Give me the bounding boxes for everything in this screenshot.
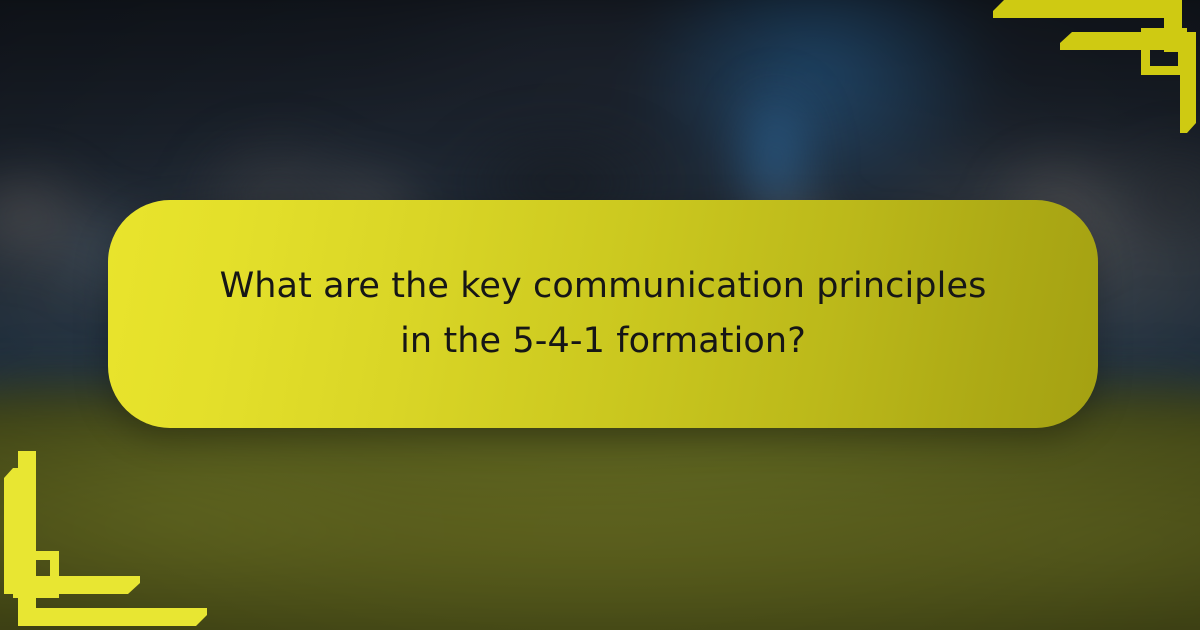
share-card-canvas: What are the key communication principle…: [0, 0, 1200, 630]
question-title: What are the key communication principle…: [208, 259, 998, 370]
question-card: What are the key communication principle…: [108, 200, 1098, 428]
